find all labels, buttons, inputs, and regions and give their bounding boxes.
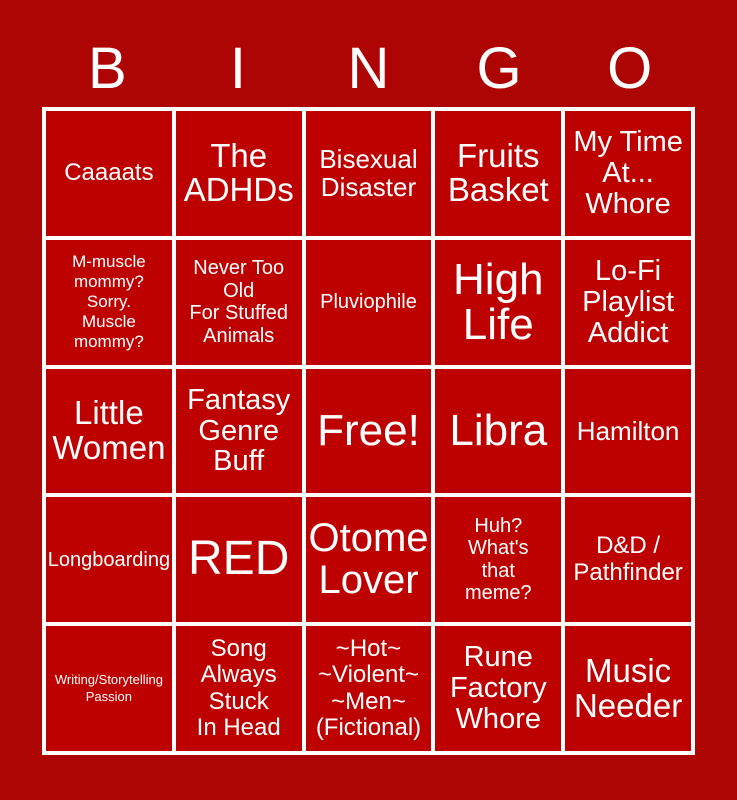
bingo-cell[interactable]: The ADHDs <box>176 111 302 236</box>
bingo-cell[interactable]: Never Too Old For Stuffed Animals <box>176 240 302 365</box>
bingo-cell[interactable]: Libra <box>435 369 561 494</box>
bingo-cell[interactable]: D&D / Pathfinder <box>565 497 691 622</box>
bingo-cell[interactable]: Bisexual Disaster <box>306 111 432 236</box>
header-letter-i: I <box>173 39 304 99</box>
bingo-cell[interactable]: Otome Lover <box>306 497 432 622</box>
bingo-cell[interactable]: Hamilton <box>565 369 691 494</box>
bingo-cell[interactable]: Huh? What's that meme? <box>435 497 561 622</box>
header-letter-o: O <box>564 39 695 99</box>
bingo-cell[interactable]: M-muscle mommy? Sorry. Muscle mommy? <box>46 240 172 365</box>
bingo-cell[interactable]: Lo-Fi Playlist Addict <box>565 240 691 365</box>
bingo-cell[interactable]: Fantasy Genre Buff <box>176 369 302 494</box>
header-letter-n: N <box>303 39 434 99</box>
bingo-cell[interactable]: Pluviophile <box>306 240 432 365</box>
bingo-cell[interactable]: Fruits Basket <box>435 111 561 236</box>
bingo-card: B I N G O CaaaatsThe ADHDsBisexual Disas… <box>0 0 737 800</box>
bingo-cell[interactable]: RED <box>176 497 302 622</box>
bingo-cell[interactable]: Caaaats <box>46 111 172 236</box>
bingo-cell[interactable]: ~Hot~ ~Violent~ ~Men~ (Fictional) <box>306 626 432 751</box>
header-letter-g: G <box>434 39 565 99</box>
bingo-grid: CaaaatsThe ADHDsBisexual DisasterFruits … <box>42 107 695 755</box>
header-letter-b: B <box>42 39 173 99</box>
bingo-cell[interactable]: Longboarding <box>46 497 172 622</box>
bingo-header: B I N G O <box>42 33 695 105</box>
bingo-cell-free[interactable]: Free! <box>306 369 432 494</box>
bingo-cell[interactable]: Writing/Storytelling Passion <box>46 626 172 751</box>
bingo-cell[interactable]: Music Needer <box>565 626 691 751</box>
bingo-cell[interactable]: Song Always Stuck In Head <box>176 626 302 751</box>
bingo-cell[interactable]: Little Women <box>46 369 172 494</box>
bingo-cell[interactable]: High Life <box>435 240 561 365</box>
bingo-cell[interactable]: Rune Factory Whore <box>435 626 561 751</box>
bingo-cell[interactable]: My Time At... Whore <box>565 111 691 236</box>
